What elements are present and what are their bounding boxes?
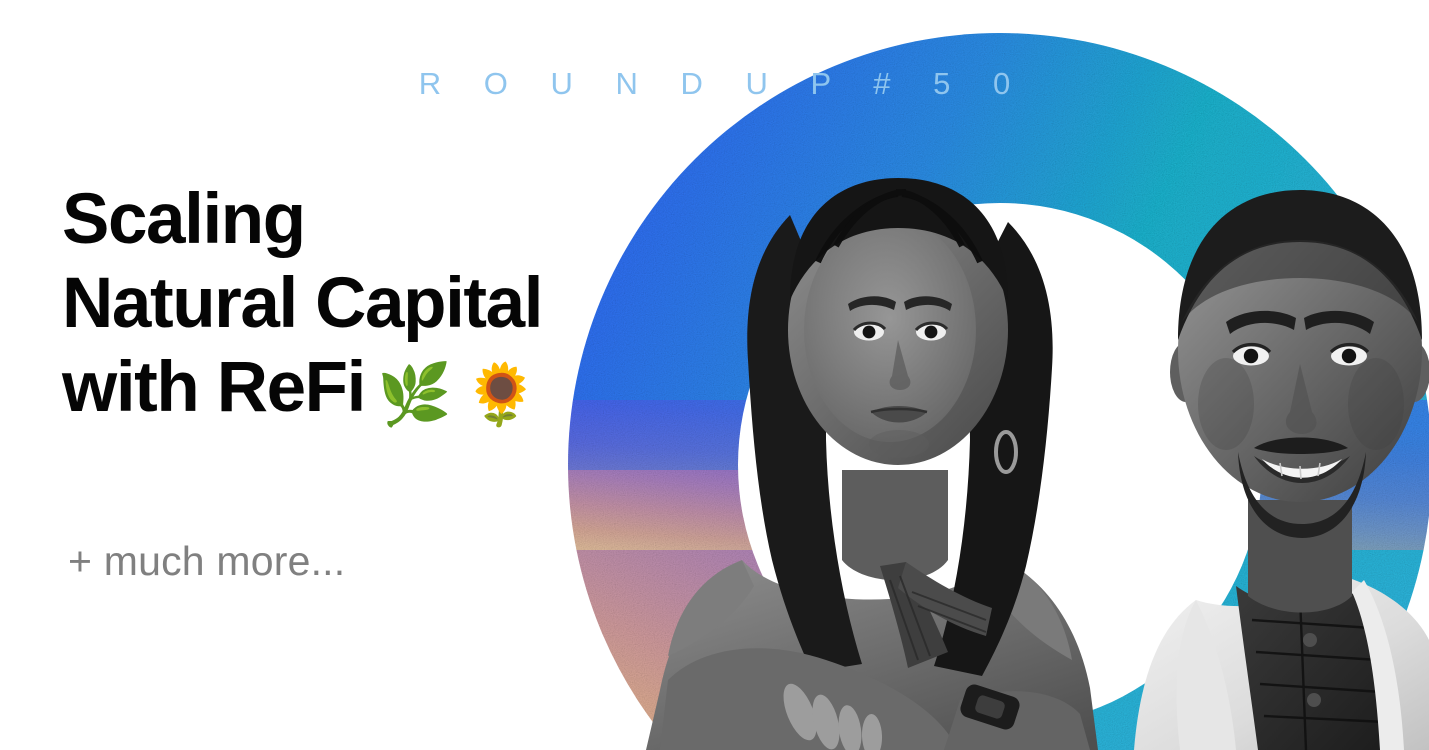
portrait-right [1134, 190, 1429, 750]
headline-line-1: Scaling [62, 178, 542, 262]
shirt-button [1307, 693, 1321, 707]
earring [996, 432, 1016, 472]
subtitle-much-more: + much more... [68, 537, 345, 586]
page-title: Scaling Natural Capital with ReFi🌿🌻 [62, 178, 542, 437]
headline-line-3-text: with ReFi [62, 348, 365, 427]
sunflower-icon: 🌻 [464, 361, 539, 428]
banner-canvas: R O U N D U P # 5 0 Scaling Natural Capi… [0, 0, 1429, 750]
shirt-button [1303, 633, 1317, 647]
headline-line-3: with ReFi🌿🌻 [62, 346, 542, 437]
herb-icon: 🌿 [377, 361, 452, 428]
portrait-left [646, 178, 1098, 750]
headline-emojis: 🌿🌻 [365, 361, 538, 428]
headline-line-2: Natural Capital [62, 262, 542, 346]
donut-ring [520, 0, 1429, 750]
issue-kicker: R O U N D U P # 5 0 [0, 68, 1429, 99]
wristwatch [958, 682, 1022, 732]
